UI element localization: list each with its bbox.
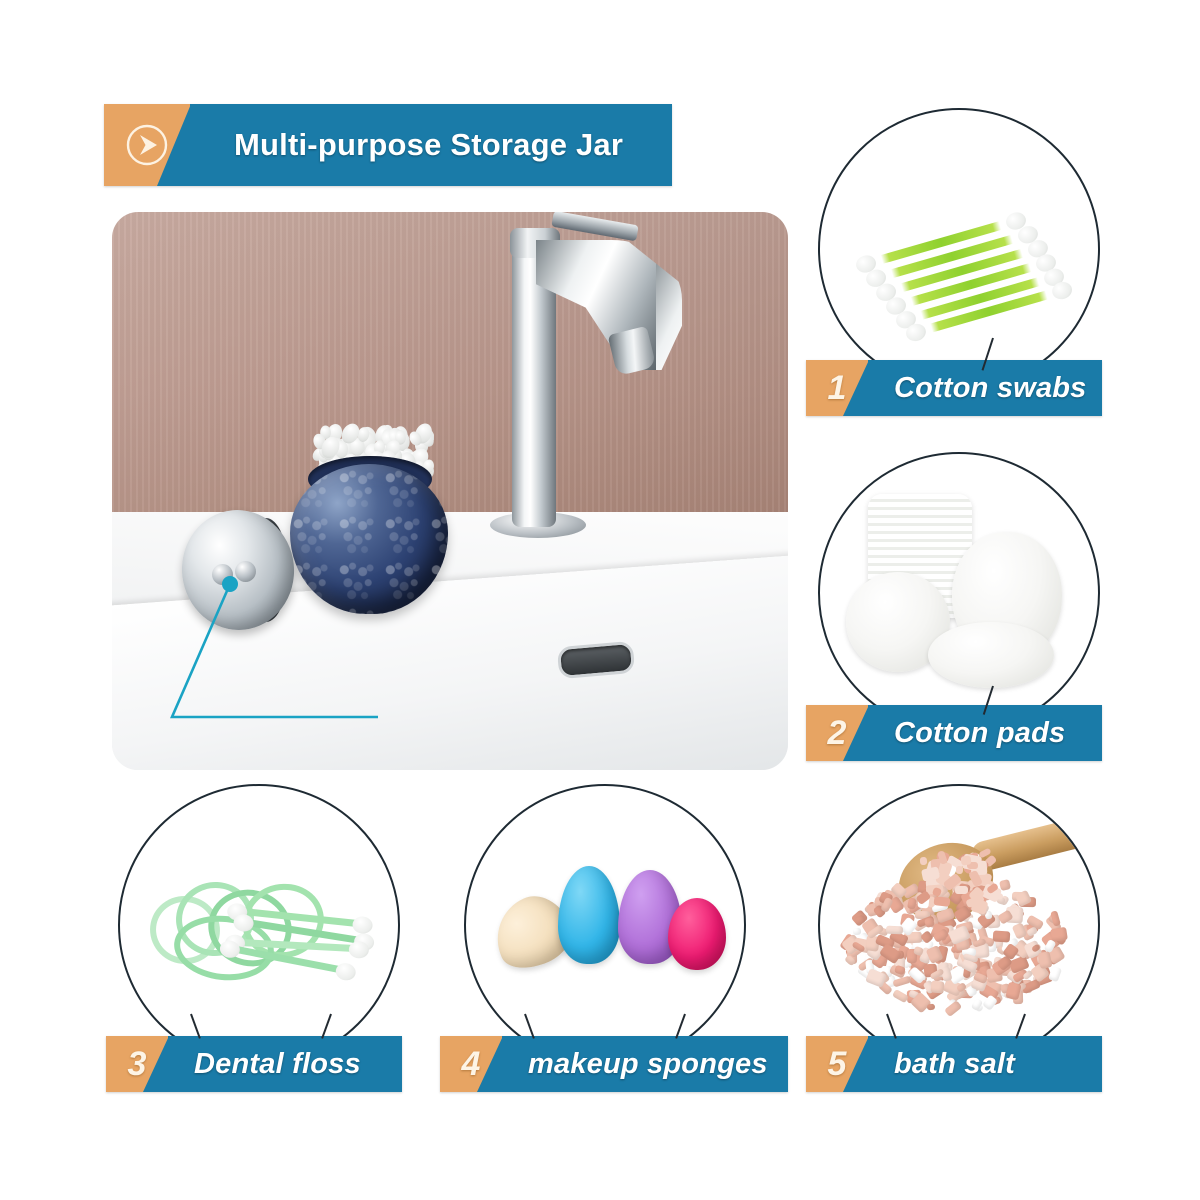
sink-overflow-slot: [557, 641, 635, 680]
item-number-badge-5: 5: [806, 1036, 868, 1092]
item-number-4: 4: [462, 1047, 481, 1081]
lid-knob-right: [235, 561, 256, 582]
title-bar: Multi-purpose Storage Jar: [190, 104, 672, 186]
item-number-badge-2: 2: [806, 705, 868, 761]
item-number-badge-1: 1: [806, 360, 868, 416]
salt-grain: [886, 926, 904, 935]
item-label-4: 4 makeup sponges: [440, 1036, 788, 1092]
lid-knob-left: [212, 564, 233, 585]
inset-photo-cotton-swabs: [818, 108, 1100, 390]
makeup-sponges-art: [466, 786, 744, 1064]
item-label-5: 5 bath salt: [806, 1036, 1102, 1092]
item-label-2: 2 Cotton pads: [806, 705, 1102, 761]
item-label-text-5: bath salt: [894, 1048, 1015, 1081]
item-label-1: 1 Cotton swabs: [806, 360, 1102, 416]
salt-grain: [852, 928, 860, 935]
item-label-bar-1: Cotton swabs: [868, 360, 1102, 416]
item-label-bar-4: makeup sponges: [502, 1036, 788, 1092]
cotton-pads-art: [820, 454, 1098, 732]
item-label-bar-5: bath salt: [868, 1036, 1102, 1092]
item-number-5: 5: [828, 1047, 847, 1081]
item-label-3: 3 Dental floss: [106, 1036, 402, 1092]
item-number-3: 3: [128, 1047, 147, 1081]
item-number-badge-4: 4: [440, 1036, 502, 1092]
item-label-text-3: Dental floss: [194, 1048, 361, 1081]
item-label-text-1: Cotton swabs: [894, 372, 1087, 405]
title-banner: Multi-purpose Storage Jar: [104, 104, 672, 186]
item-number-1: 1: [828, 371, 847, 405]
infographic-canvas: Multi-purpose Storage Jar: [0, 0, 1200, 1200]
title-text: Multi-purpose Storage Jar: [234, 127, 623, 163]
salt-grain: [931, 981, 945, 994]
item-label-text-4: makeup sponges: [528, 1048, 768, 1081]
bathroom-wall: [112, 212, 788, 542]
bath-salt-art: [820, 786, 1098, 1064]
cotton-swabs-art: [820, 110, 1098, 388]
salt-grain: [955, 886, 968, 894]
inset-photo-cotton-pads: [818, 452, 1100, 734]
salt-grain: [993, 930, 1011, 942]
inset-photo-makeup-sponges: [464, 784, 746, 1066]
salt-grain: [961, 855, 972, 865]
jar-mosaic-texture: [290, 464, 448, 614]
item-label-text-2: Cotton pads: [894, 717, 1065, 750]
item-number-badge-3: 3: [106, 1036, 168, 1092]
main-product-photo: Sturdy metal lid: [112, 212, 788, 770]
salt-grain: [1050, 926, 1067, 941]
dental-floss-art: [120, 786, 398, 1064]
chevron-right-circle-icon: [124, 122, 170, 168]
salt-grain: [933, 896, 950, 906]
title-badge: [104, 104, 190, 186]
inset-photo-bath-salt: [818, 784, 1100, 1066]
mosaic-storage-jar: [290, 464, 448, 614]
salt-grain: [927, 1003, 935, 1010]
inset-photo-dental-floss: [118, 784, 400, 1066]
item-number-2: 2: [828, 716, 847, 750]
item-label-bar-3: Dental floss: [168, 1036, 402, 1092]
